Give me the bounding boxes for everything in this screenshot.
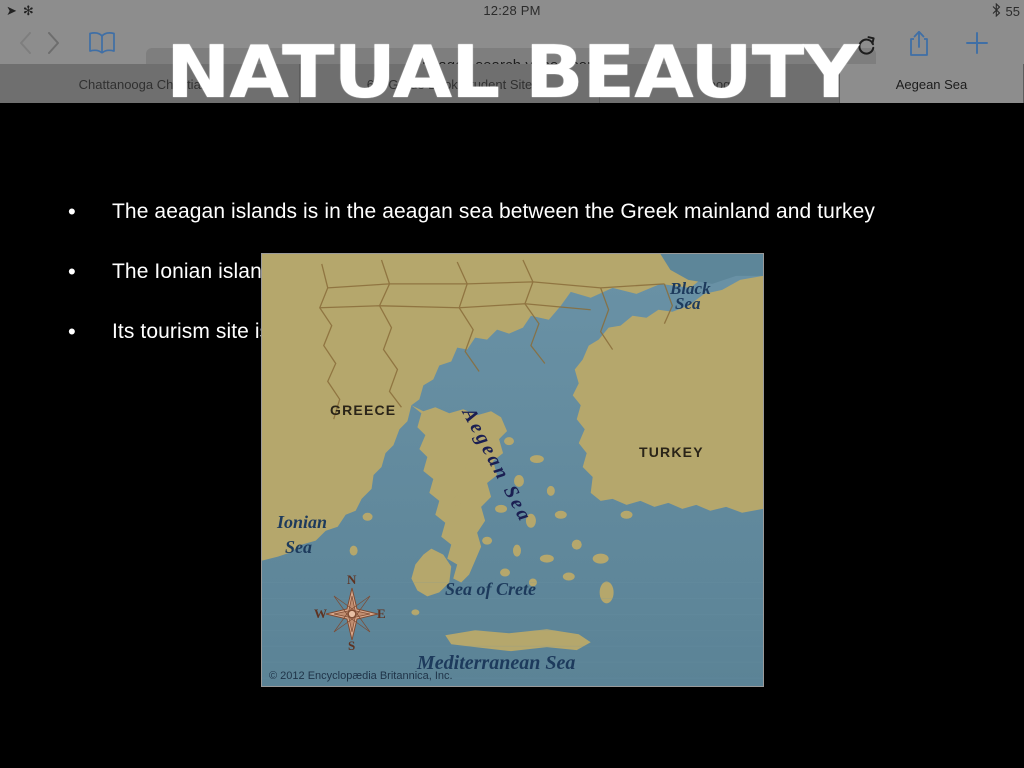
reload-button[interactable]	[850, 30, 884, 60]
safari-tab-bar: Chattanooga Christian S 6th Grade Book S…	[0, 64, 1024, 104]
compass-rose-icon: N S W E	[314, 572, 390, 656]
tab-label: 6th Grade Book Student Site	[367, 77, 533, 92]
tab-chattanooga-christian[interactable]: Chattanooga Christian S	[0, 64, 300, 104]
slide-background	[0, 103, 1024, 768]
map-label-black-sea-2: Sea	[675, 294, 701, 314]
map-label-mediterranean-sea: Mediterranean Sea	[417, 652, 575, 675]
tab-label: Chattanooga Christian S	[79, 77, 221, 92]
battery-percent-label: 55	[1006, 4, 1020, 19]
bullet-text: The aeagan islands is in the aeagan sea …	[112, 196, 875, 228]
bullet-marker: •	[62, 256, 112, 288]
aegean-sea-map-image: Black Sea GREECE TURKEY Ionian Sea Aegea…	[261, 253, 764, 687]
tab-google[interactable]: Google	[600, 64, 840, 104]
compass-west-label: W	[314, 606, 327, 622]
bullet-text: The Ionian islands- its in the Ionian se…	[112, 256, 744, 288]
map-label-sea-of-crete: Sea of Crete	[445, 579, 536, 600]
share-button[interactable]	[902, 28, 936, 58]
bookmarks-button[interactable]	[82, 28, 122, 58]
status-bar-clock: 12:28 PM	[0, 3, 1024, 18]
forward-button[interactable]	[36, 28, 70, 58]
map-label-aegean-sea: Aegean Sea	[457, 404, 537, 527]
tab-aegean-sea[interactable]: Aegean Sea	[840, 64, 1024, 104]
tab-label: Google	[699, 77, 741, 92]
map-label-greece: GREECE	[330, 402, 396, 418]
presentation-slide: NATUAL BEAUTY • The aeagan islands is in…	[0, 0, 1024, 768]
list-item: • The Ionian islands- its in the Ionian …	[62, 256, 1002, 288]
bluetooth-icon	[992, 3, 1001, 20]
safari-toolbar: images.search.yahoo.com	[0, 22, 1024, 64]
compass-north-label: N	[347, 572, 356, 588]
bullet-list: • The aeagan islands is in the aeagan se…	[62, 196, 1002, 376]
tab-label: Aegean Sea	[896, 77, 968, 92]
bullet-marker: •	[62, 316, 112, 348]
map-label-black-sea: Black	[670, 279, 711, 299]
new-tab-button[interactable]	[960, 28, 994, 58]
compass-south-label: S	[348, 638, 355, 654]
compass-east-label: E	[377, 606, 386, 622]
map-label-turkey: TURKEY	[639, 444, 704, 460]
browser-chrome: ➤ ✻ 12:28 PM 55	[0, 0, 1024, 104]
list-item: • Its tourism site is the islands of ith…	[62, 316, 1002, 348]
map-copyright-credit: © 2012 Encyclopædia Britannica, Inc.	[269, 670, 453, 682]
map-label-ionian-sea: Ionian	[277, 512, 327, 533]
bullet-marker: •	[62, 196, 112, 228]
map-label-ionian-sea-2: Sea	[285, 537, 312, 558]
list-item: • The aeagan islands is in the aeagan se…	[62, 196, 1002, 228]
status-bar-right: 55	[992, 3, 1020, 20]
bullet-text: Its tourism site is the islands of ithca	[112, 316, 452, 348]
tab-6th-grade-book-student-site[interactable]: 6th Grade Book Student Site	[300, 64, 600, 104]
ios-status-bar: ➤ ✻ 12:28 PM 55	[0, 0, 1024, 22]
bottom-left-artifact	[8, 752, 18, 762]
map-graphic	[262, 254, 763, 686]
